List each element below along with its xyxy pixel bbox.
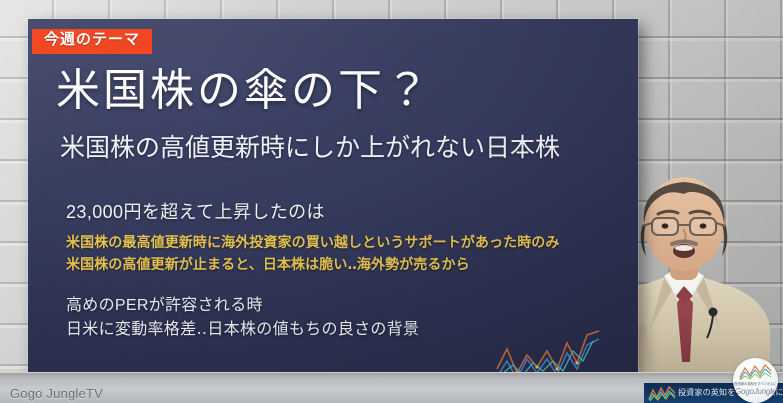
channel-watermark: Gogo JungleTV: [10, 386, 103, 401]
logo-zigzag-line-chart-icon: [738, 364, 773, 380]
topic-badge: 今週のテーマ: [32, 29, 152, 54]
body-highlight-line-1: 米国株の最高値更新時に海外投資家の買い越しというサポートがあった時のみ: [66, 232, 626, 254]
presentation-slide: 今週のテーマ 米国株の傘の下？ 米国株の高値更新時にしか上がれない日本株 23,…: [28, 19, 638, 375]
logo-badge-subtext: 投資家の英知をすべての人に: [733, 381, 778, 386]
body-note-line-1: 高めのPERが許容される時: [66, 294, 626, 318]
zigzag-line-chart-icon: [493, 329, 603, 375]
video-frame: 今週のテーマ 米国株の傘の下？ 米国株の高値更新時にしか上がれない日本株 23,…: [0, 0, 783, 403]
slide-body: 23,000円を超えて上昇したのは 米国株の最高値更新時に海外投資家の買い越しと…: [66, 199, 626, 342]
body-highlight-line-2: 米国株の高値更新が止まると、日本株は脆い‥海外勢が売るから: [66, 254, 626, 276]
logo-badge-name: GogoJungle: [733, 387, 778, 396]
banner-zigzag-line-chart-icon: [648, 385, 676, 401]
body-lead-text: 23,000円を超えて上昇したのは: [66, 199, 626, 225]
logo-badge: 投資家の英知をすべての人に GogoJungle: [733, 358, 778, 403]
slide-subtitle: 米国株の高値更新時にしか上がれない日本株: [60, 134, 635, 163]
slide-title: 米国株の傘の下？: [56, 67, 616, 115]
